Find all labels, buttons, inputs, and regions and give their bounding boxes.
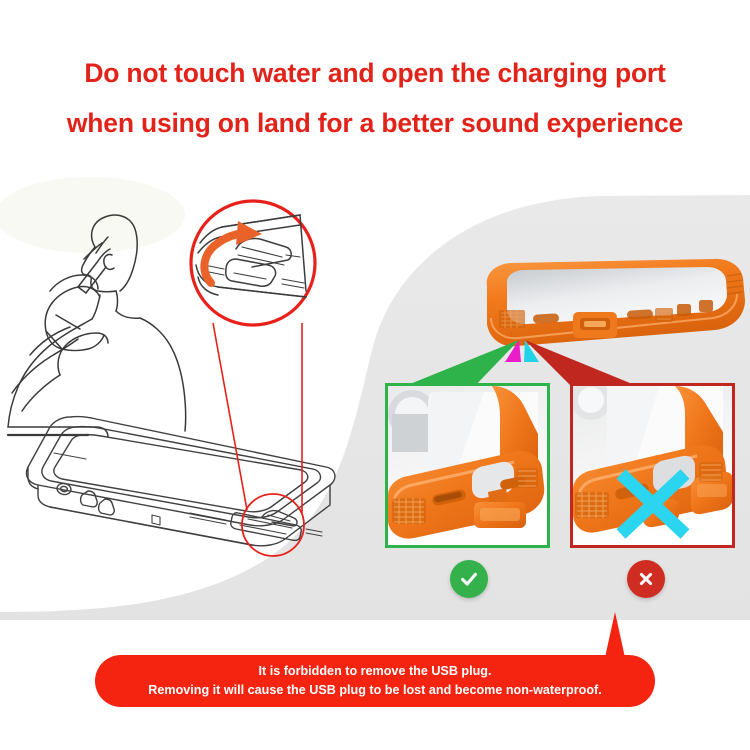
- person-on-phone-icon: [8, 215, 186, 437]
- headline-line-1: Do not touch water and open the charging…: [0, 48, 750, 98]
- instruction-graphic-canvas: Do not touch water and open the charging…: [0, 0, 750, 750]
- panel-incorrect-usb-removed: [570, 383, 735, 548]
- warning-banner: It is forbidden to remove the USB plug. …: [95, 655, 655, 707]
- cross-icon: [636, 569, 656, 589]
- banner-line-2: Removing it will cause the USB plug to b…: [148, 681, 601, 700]
- correct-check-badge: [450, 560, 488, 598]
- banner-line-1: It is forbidden to remove the USB plug.: [259, 662, 492, 681]
- magnified-port-detail: [191, 201, 315, 325]
- photo-usb-plug-removed: [573, 386, 733, 546]
- headline: Do not touch water and open the charging…: [0, 48, 750, 148]
- usb-plug-on-case: [573, 312, 617, 338]
- panel-correct-usb-attached: [385, 383, 550, 548]
- headline-line-2: when using on land for a better sound ex…: [0, 98, 750, 148]
- incorrect-cross-badge: [627, 560, 665, 598]
- photo-usb-plug-attached: [388, 386, 548, 546]
- left-line-art-illustration: [0, 195, 400, 615]
- magnifier-connector-lines: [213, 323, 302, 513]
- check-icon: [458, 568, 480, 590]
